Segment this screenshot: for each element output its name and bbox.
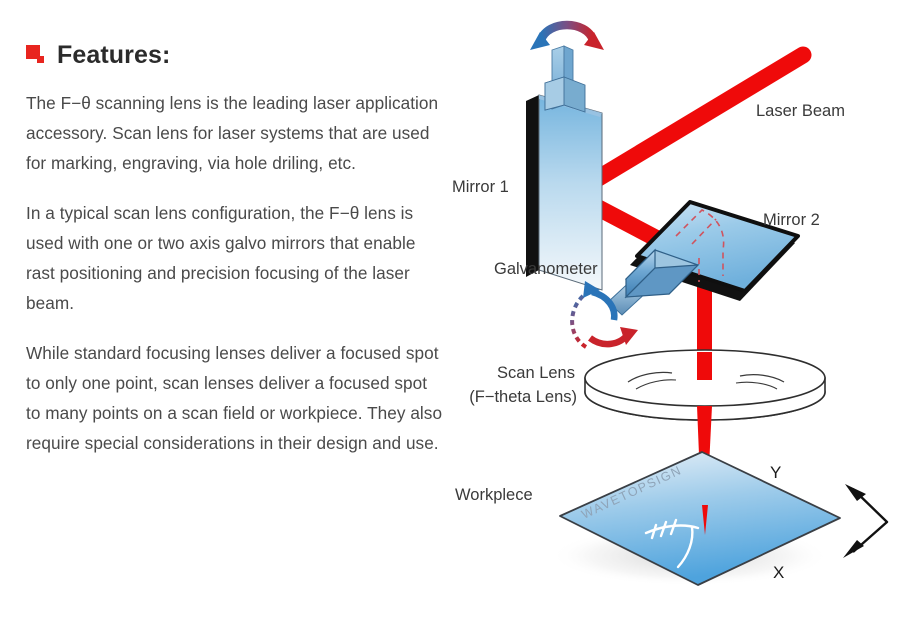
mirror-1 bbox=[526, 25, 604, 290]
features-text-column: Features: The F−θ scanning lens is the l… bbox=[26, 40, 446, 458]
label-axis-y: Y bbox=[770, 463, 781, 482]
axis-arrowheads bbox=[843, 484, 866, 558]
laser-beam-incoming bbox=[572, 55, 803, 194]
page-title: Features: bbox=[57, 43, 170, 68]
laser-beam-through-lens bbox=[697, 352, 712, 380]
label-workpiece: Workplece bbox=[455, 486, 533, 504]
feature-paragraph-1: The F−θ scanning lens is the leading las… bbox=[26, 88, 446, 178]
label-galvanometer: Galvanometer bbox=[494, 260, 598, 278]
label-mirror-2: Mirror 2 bbox=[763, 211, 820, 229]
label-laser-beam: Laser Beam bbox=[756, 102, 845, 120]
label-axis-x: X bbox=[773, 563, 784, 582]
label-scan-lens-line1: Scan Lens bbox=[497, 364, 575, 382]
label-scan-lens-line2: (F−theta Lens) bbox=[469, 388, 577, 406]
label-mirror-1: Mirror 1 bbox=[452, 178, 509, 196]
mirror-1-rotation-arrow-icon bbox=[530, 25, 604, 50]
red-double-square-bullet-icon bbox=[26, 45, 46, 65]
optical-path-diagram: WAVETOPSIGN Laser Beam Mirror 1 Mirror 2… bbox=[440, 0, 900, 621]
mirror-1-mount bbox=[545, 46, 585, 112]
features-heading: Features: bbox=[26, 40, 446, 70]
feature-paragraph-3: While standard focusing lenses deliver a… bbox=[26, 338, 446, 458]
feature-paragraph-2: In a typical scan lens configuration, th… bbox=[26, 198, 446, 318]
workpiece: WAVETOPSIGN bbox=[550, 452, 840, 586]
